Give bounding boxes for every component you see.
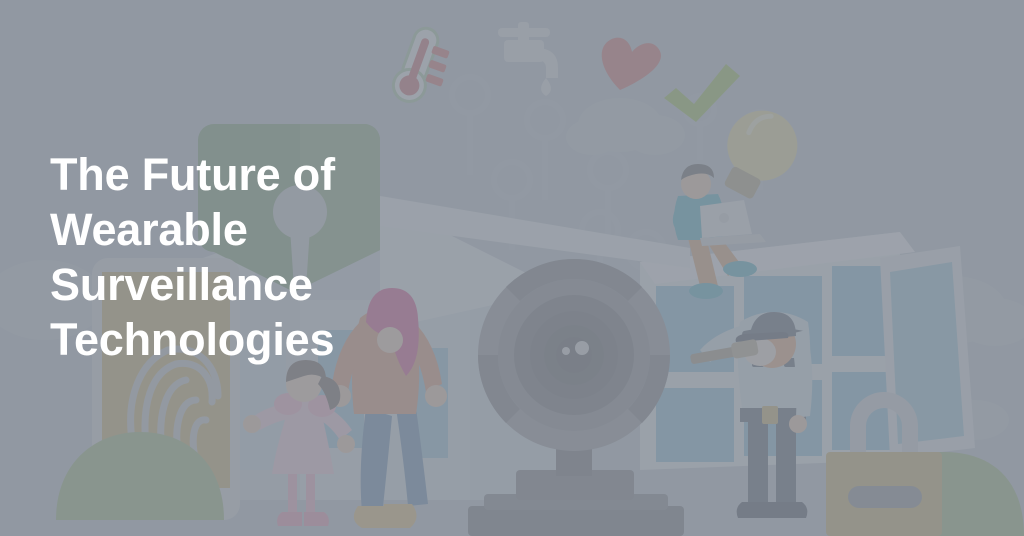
page-title: The Future of Wearable Surveillance Tech… xyxy=(50,148,480,368)
hero-banner: The Future of Wearable Surveillance Tech… xyxy=(0,0,1024,536)
security-camera xyxy=(468,259,684,536)
